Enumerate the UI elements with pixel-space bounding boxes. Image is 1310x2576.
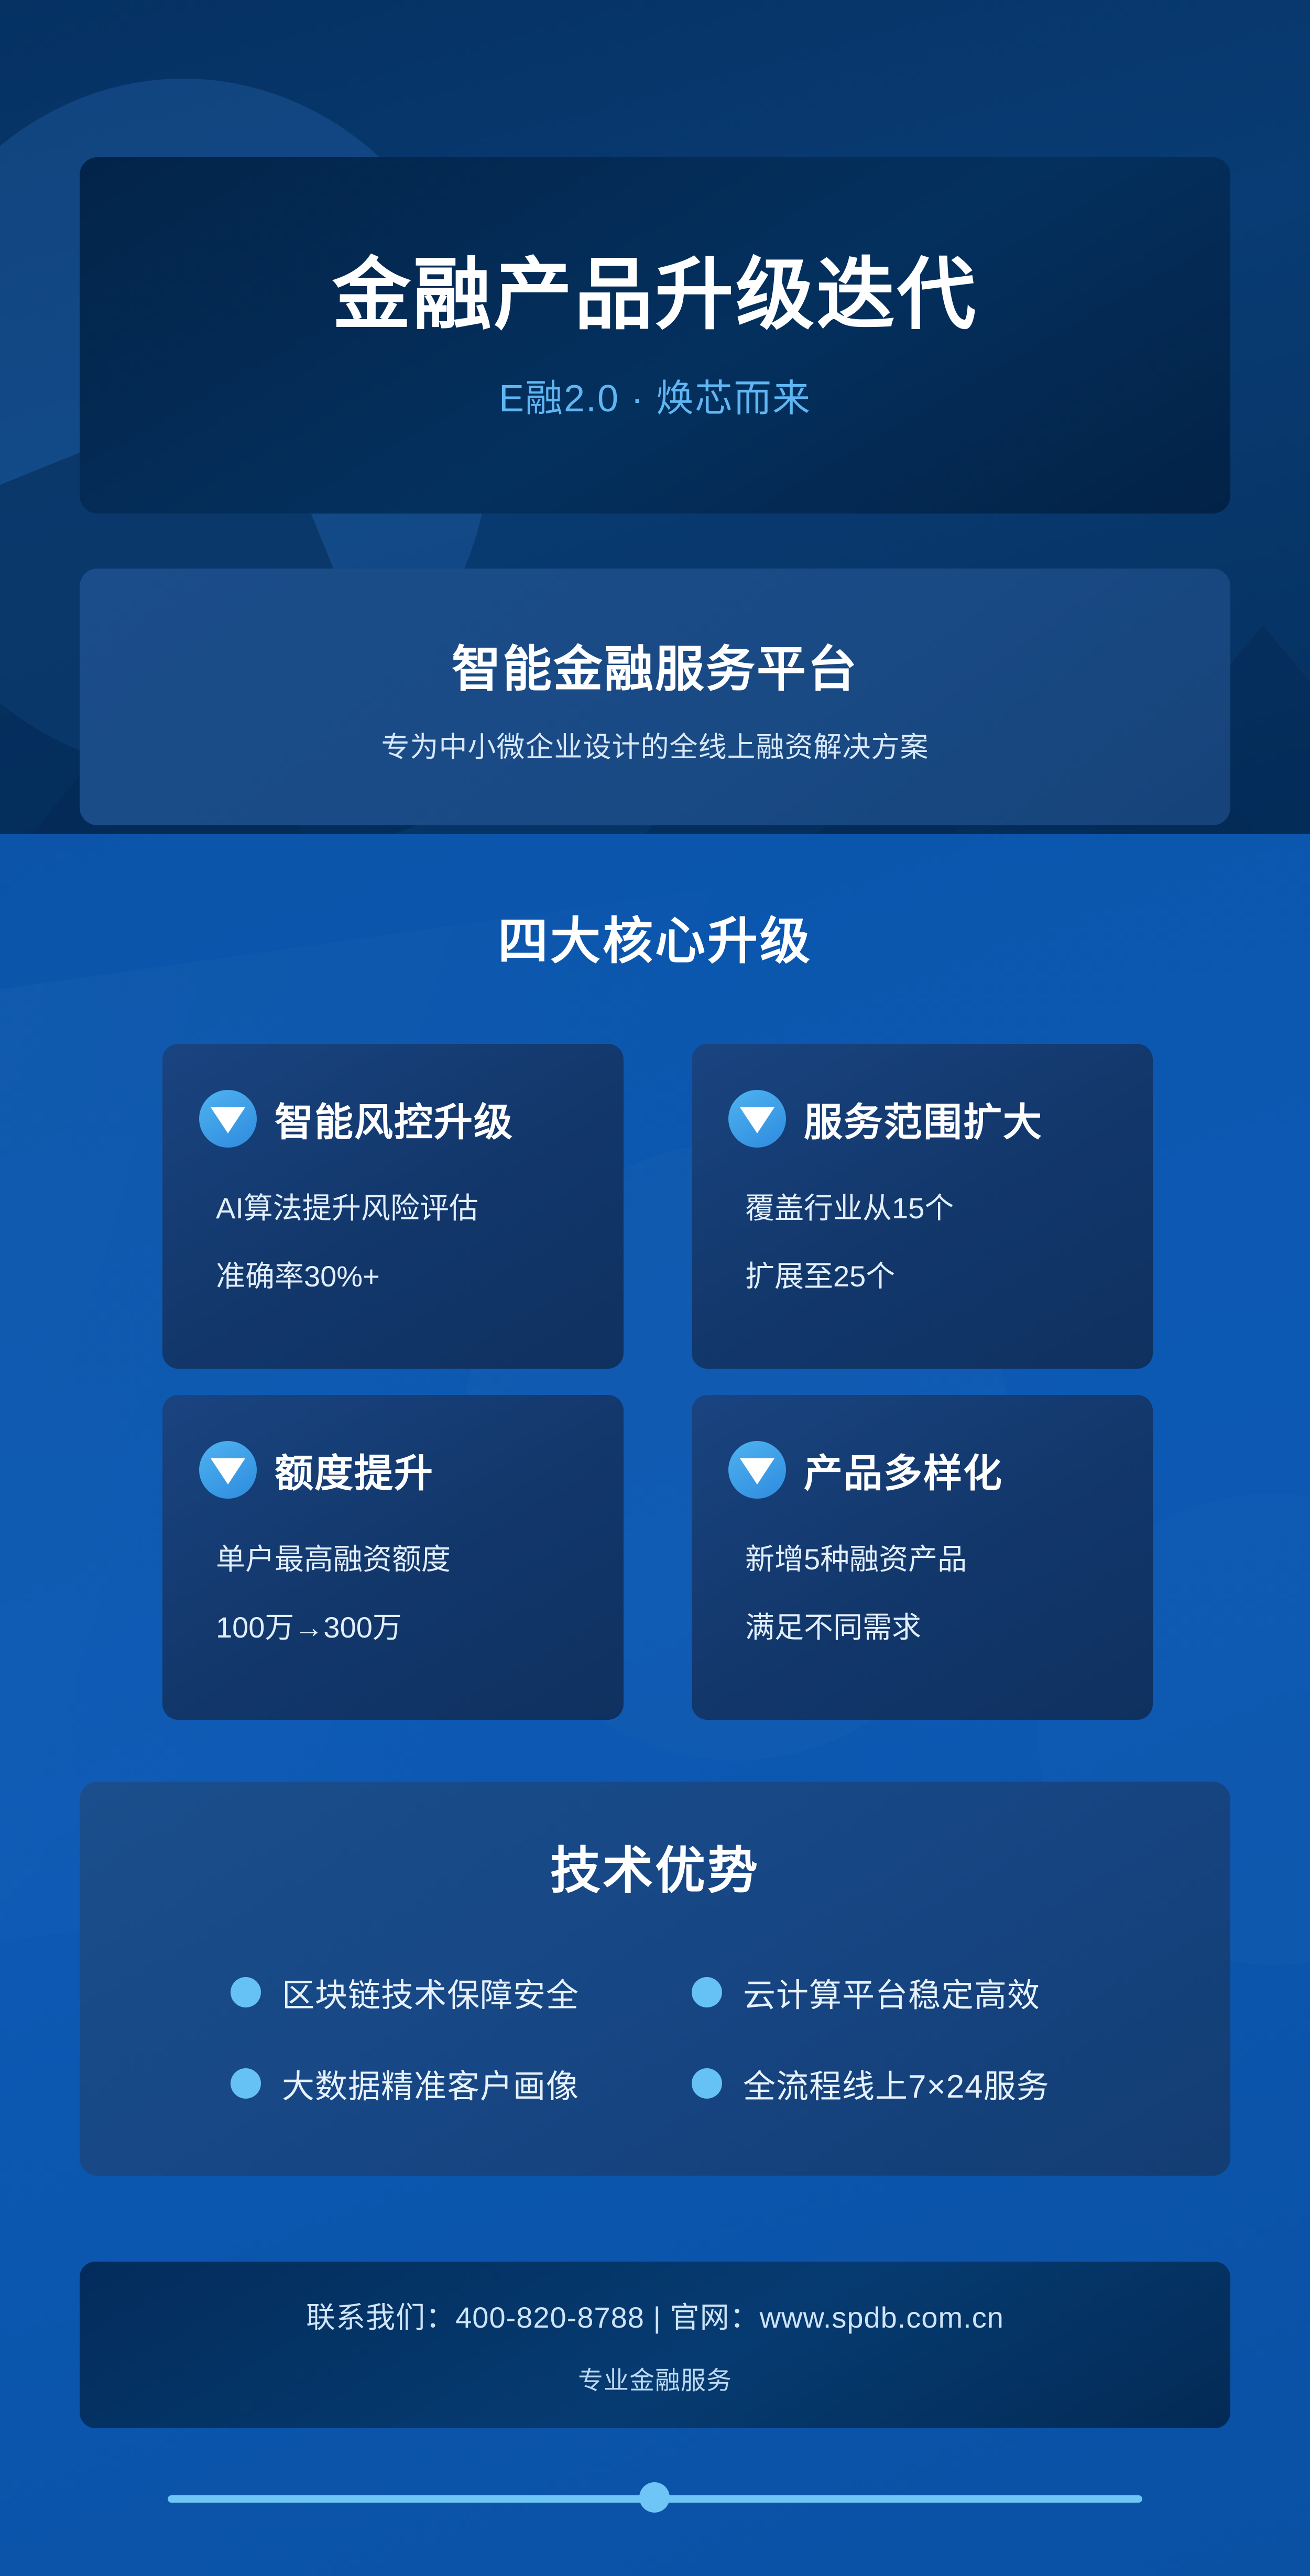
feature-card-line-2: 满足不同需求: [745, 1613, 1116, 1642]
triangle-down-icon: [728, 1090, 786, 1148]
tech-item-label: 云计算平台稳定高效: [743, 1969, 1040, 2016]
tech-list-item: 大数据精准客户画像: [231, 2060, 681, 2107]
feature-card-body: 覆盖行业从15个 扩展至25个: [728, 1194, 1116, 1291]
feature-card-line-2: 扩展至25个: [745, 1262, 1116, 1291]
hero-subtitle: E融2.0 · 焕芯而来: [499, 367, 811, 422]
feature-card-body: 单户最高融资额度 100万→300万: [199, 1545, 587, 1642]
tech-item-label: 全流程线上7×24服务: [743, 2060, 1050, 2107]
dot-icon: [692, 1977, 722, 2007]
progress-indicator[interactable]: [0, 2483, 1310, 2514]
tech-item-label: 区块链技术保障安全: [282, 1969, 579, 2016]
feature-card-header: 服务范围扩大: [728, 1090, 1116, 1148]
feature-card-product-variety[interactable]: 产品多样化 新增5种融资产品 满足不同需求: [692, 1395, 1153, 1720]
platform-subtitle: 专为中小微企业设计的全线上融资解决方案: [381, 724, 929, 765]
tech-list-item: 区块链技术保障安全: [231, 1969, 681, 2016]
feature-card-title: 服务范围扩大: [804, 1091, 1043, 1147]
features-section-title: 四大核心升级: [0, 900, 1310, 973]
feature-card-header: 产品多样化: [728, 1441, 1116, 1499]
feature-card-line-1: 覆盖行业从15个: [745, 1194, 1116, 1223]
dot-icon: [231, 1977, 261, 2007]
tech-list-item: 云计算平台稳定高效: [692, 1969, 1142, 2016]
feature-card-line-2: 100万→300万: [216, 1613, 587, 1642]
dot-icon: [231, 2068, 261, 2099]
feature-card-service-scope[interactable]: 服务范围扩大 覆盖行业从15个 扩展至25个: [692, 1044, 1153, 1369]
feature-card-credit-limit[interactable]: 额度提升 单户最高融资额度 100万→300万: [162, 1395, 624, 1720]
triangle-down-icon: [199, 1090, 257, 1148]
footer-contact-line[interactable]: 联系我们：400-820-8788 | 官网：www.spdb.com.cn: [306, 2294, 1004, 2337]
dot-icon: [692, 2068, 722, 2099]
feature-card-title: 额度提升: [275, 1442, 434, 1498]
tech-advantages-list: 区块链技术保障安全 云计算平台稳定高效 大数据精准客户画像 全流程线上7×24服…: [168, 1969, 1142, 2107]
feature-card-title: 产品多样化: [804, 1442, 1003, 1498]
feature-card-body: AI算法提升风险评估 准确率30%+: [199, 1194, 587, 1291]
triangle-down-icon: [199, 1441, 257, 1499]
hero-title: 金融产品升级迭代: [332, 249, 978, 340]
feature-card-line-1: AI算法提升风险评估: [216, 1194, 587, 1223]
platform-card: 智能金融服务平台 专为中小微企业设计的全线上融资解决方案: [80, 569, 1230, 825]
feature-card-line-2: 准确率30%+: [216, 1262, 587, 1291]
progress-knob[interactable]: [639, 2482, 670, 2513]
feature-card-header: 智能风控升级: [199, 1090, 587, 1148]
feature-card-grid: 智能风控升级 AI算法提升风险评估 准确率30%+ 服务范围扩大 覆盖行业从15…: [162, 1044, 1153, 1720]
feature-card-line-1: 单户最高融资额度: [216, 1545, 587, 1574]
platform-title: 智能金融服务平台: [452, 629, 858, 701]
feature-card-risk-control[interactable]: 智能风控升级 AI算法提升风险评估 准确率30%+: [162, 1044, 624, 1369]
tech-list-item: 全流程线上7×24服务: [692, 2060, 1142, 2107]
feature-card-body: 新增5种融资产品 满足不同需求: [728, 1545, 1116, 1642]
feature-card-header: 额度提升: [199, 1441, 587, 1499]
tech-item-label: 大数据精准客户画像: [282, 2060, 579, 2107]
poster-root: 金融产品升级迭代 E融2.0 · 焕芯而来 智能金融服务平台 专为中小微企业设计…: [0, 0, 1310, 2576]
tech-advantages-card: 技术优势 区块链技术保障安全 云计算平台稳定高效 大数据精准客户画像 全流程线上…: [80, 1782, 1230, 2176]
tech-advantages-title: 技术优势: [80, 1830, 1230, 1903]
footer-tagline: 专业金融服务: [578, 2360, 732, 2396]
feature-card-line-1: 新增5种融资产品: [745, 1545, 1116, 1574]
footer-card: 联系我们：400-820-8788 | 官网：www.spdb.com.cn 专…: [80, 2262, 1230, 2428]
triangle-down-icon: [728, 1441, 786, 1499]
feature-card-title: 智能风控升级: [275, 1091, 514, 1147]
hero-card: 金融产品升级迭代 E融2.0 · 焕芯而来: [80, 157, 1230, 514]
